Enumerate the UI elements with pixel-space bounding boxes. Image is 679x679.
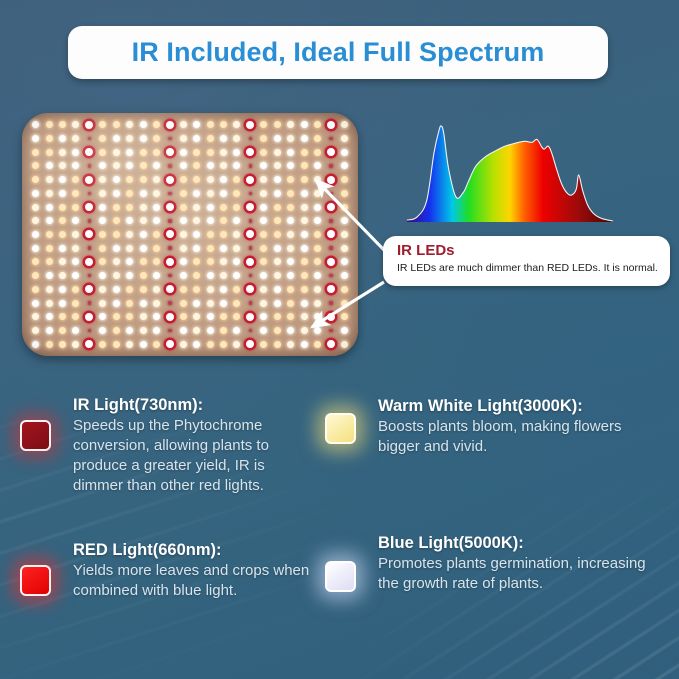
white-led	[271, 269, 284, 283]
led-dot	[126, 204, 133, 211]
led-dot	[126, 341, 133, 348]
led-dot	[260, 121, 267, 128]
led-dot	[59, 286, 66, 293]
led-dot	[341, 300, 348, 307]
led-dot	[99, 327, 106, 334]
white-led	[56, 214, 69, 228]
white-led	[96, 310, 109, 324]
feature-ir-light: IR Light(730nm): Speeds up the Phytochro…	[20, 395, 310, 496]
white-led	[96, 173, 109, 187]
white-led	[177, 324, 190, 338]
white-led	[177, 118, 190, 132]
white-led	[110, 282, 123, 296]
led-dot	[233, 162, 240, 169]
led-dot	[301, 204, 308, 211]
white-led	[110, 324, 123, 338]
led-dot	[314, 190, 321, 197]
led-dot	[314, 204, 321, 211]
led-dot	[99, 121, 106, 128]
led-dot	[314, 231, 321, 238]
white-led	[96, 241, 109, 255]
led-dot	[166, 148, 174, 156]
led-dot	[46, 190, 53, 197]
led-dot	[327, 148, 335, 156]
white-led	[297, 255, 310, 269]
led-dot	[126, 217, 133, 224]
white-led	[190, 337, 203, 351]
white-led	[297, 159, 310, 173]
white-led	[29, 118, 42, 132]
led-dot	[126, 135, 133, 142]
white-led	[257, 132, 270, 146]
white-led	[297, 187, 310, 201]
white-led	[123, 269, 136, 283]
white-led	[190, 255, 203, 269]
led-dot	[287, 300, 294, 307]
led-dot	[85, 313, 93, 321]
white-led	[297, 173, 310, 187]
led-dot	[246, 148, 254, 156]
led-dot	[260, 313, 267, 320]
white-led	[230, 269, 243, 283]
led-dot	[126, 162, 133, 169]
white-led	[177, 200, 190, 214]
led-dot	[274, 231, 281, 238]
white-led	[150, 269, 163, 283]
white-led	[136, 282, 149, 296]
white-led	[177, 269, 190, 283]
led-dot	[249, 164, 253, 168]
white-led	[190, 187, 203, 201]
white-led	[56, 337, 69, 351]
white-led	[284, 228, 297, 242]
white-led	[284, 269, 297, 283]
white-led	[150, 255, 163, 269]
white-led	[217, 310, 230, 324]
led-dot	[329, 246, 333, 250]
led-dot	[260, 286, 267, 293]
led-dot	[314, 162, 321, 169]
led-dot	[113, 135, 120, 142]
white-led	[190, 228, 203, 242]
led-dot	[207, 272, 214, 279]
led-dot	[72, 272, 79, 279]
white-led	[150, 200, 163, 214]
white-led	[96, 159, 109, 173]
led-dot	[99, 149, 106, 156]
white-led	[69, 241, 82, 255]
led-dot	[301, 162, 308, 169]
led-dot	[193, 121, 200, 128]
white-led	[96, 269, 109, 283]
led-dot	[59, 217, 66, 224]
led-dot	[140, 176, 147, 183]
white-led	[150, 310, 163, 324]
led-dot	[193, 190, 200, 197]
white-led	[311, 214, 324, 228]
led-dot	[301, 300, 308, 307]
led-dot	[207, 327, 214, 334]
led-dot	[72, 258, 79, 265]
white-led	[311, 269, 324, 283]
white-led	[56, 228, 69, 242]
white-led	[29, 228, 42, 242]
ir-led	[244, 214, 257, 228]
led-dot	[72, 300, 79, 307]
led-dot	[166, 203, 174, 211]
led-dot	[341, 190, 348, 197]
ir-swatch	[20, 420, 51, 451]
white-led	[257, 214, 270, 228]
led-dot	[88, 246, 92, 250]
led-dot	[72, 341, 79, 348]
white-led	[338, 310, 351, 324]
white-led	[110, 228, 123, 242]
ir-leds-callout: IR LEDs IR LEDs are much dimmer than RED…	[383, 236, 670, 286]
led-dot	[287, 231, 294, 238]
led-dot	[140, 121, 147, 128]
led-dot	[329, 164, 333, 168]
white-led	[257, 296, 270, 310]
led-dot	[193, 258, 200, 265]
red-led	[163, 310, 176, 324]
led-dot	[59, 121, 66, 128]
white-led	[42, 296, 55, 310]
led-dot	[113, 327, 120, 334]
white-led	[69, 118, 82, 132]
white-led	[42, 228, 55, 242]
white-led	[150, 228, 163, 242]
white-led	[56, 296, 69, 310]
white-led	[297, 241, 310, 255]
led-dot	[126, 245, 133, 252]
led-dot	[46, 327, 53, 334]
led-dot	[153, 121, 160, 128]
led-dot	[72, 245, 79, 252]
white-led	[284, 118, 297, 132]
led-dot	[207, 190, 214, 197]
led-dot	[32, 121, 39, 128]
led-dot	[140, 217, 147, 224]
ir-led	[324, 214, 337, 228]
white-led	[110, 310, 123, 324]
white-led	[29, 282, 42, 296]
led-dot	[233, 149, 240, 156]
led-dot	[153, 300, 160, 307]
led-dot	[32, 149, 39, 156]
white-led	[203, 228, 216, 242]
led-dot	[113, 272, 120, 279]
white-led	[230, 132, 243, 146]
led-dot	[341, 176, 348, 183]
led-dot	[287, 313, 294, 320]
led-dot	[260, 272, 267, 279]
white-led	[123, 324, 136, 338]
led-dot	[140, 162, 147, 169]
led-dot	[153, 313, 160, 320]
led-dot	[153, 231, 160, 238]
ir-led	[244, 159, 257, 173]
spectrum-chart	[404, 118, 616, 226]
white-led	[96, 324, 109, 338]
white-led	[311, 282, 324, 296]
red-led	[324, 200, 337, 214]
led-dot	[249, 219, 253, 223]
white-led	[150, 145, 163, 159]
white-led	[136, 145, 149, 159]
led-dot	[85, 203, 93, 211]
white-led	[311, 310, 324, 324]
white-led	[271, 132, 284, 146]
led-dot	[140, 190, 147, 197]
white-led	[42, 324, 55, 338]
white-led	[217, 324, 230, 338]
led-dot	[260, 300, 267, 307]
led-dot	[301, 258, 308, 265]
led-dot	[220, 258, 227, 265]
led-dot	[32, 313, 39, 320]
white-led	[69, 255, 82, 269]
feature-title: RED Light(660nm):	[73, 540, 320, 561]
led-dot	[314, 217, 321, 224]
red-led	[83, 255, 96, 269]
white-led	[271, 310, 284, 324]
led-dot	[301, 135, 308, 142]
led-dot	[32, 286, 39, 293]
white-led	[217, 255, 230, 269]
led-dot	[99, 190, 106, 197]
led-dot	[46, 341, 53, 348]
led-dot	[341, 245, 348, 252]
white-led	[311, 118, 324, 132]
white-led	[297, 145, 310, 159]
led-dot	[46, 149, 53, 156]
led-dot	[249, 246, 253, 250]
led-dot	[85, 121, 93, 129]
led-dot	[193, 135, 200, 142]
white-led	[230, 173, 243, 187]
ir-led	[163, 269, 176, 283]
led-dot	[249, 137, 253, 141]
led-dot	[32, 272, 39, 279]
led-dot	[180, 135, 187, 142]
white-led	[177, 296, 190, 310]
led-dot	[72, 149, 79, 156]
white-led	[297, 337, 310, 351]
led-dot	[260, 135, 267, 142]
led-dot	[193, 286, 200, 293]
white-led	[338, 145, 351, 159]
ir-led	[83, 187, 96, 201]
white-led	[56, 200, 69, 214]
white-led	[150, 173, 163, 187]
white-led	[190, 296, 203, 310]
led-dot	[140, 149, 147, 156]
blue-swatch	[325, 561, 356, 592]
led-dot	[72, 121, 79, 128]
led-dot	[153, 204, 160, 211]
white-led	[257, 159, 270, 173]
ir-led	[163, 241, 176, 255]
white-led	[29, 255, 42, 269]
white-led	[230, 282, 243, 296]
led-dot	[88, 274, 92, 278]
white-led	[203, 296, 216, 310]
white-led	[271, 337, 284, 351]
white-led	[177, 241, 190, 255]
led-dot	[46, 217, 53, 224]
white-led	[29, 132, 42, 146]
red-led	[83, 145, 96, 159]
led-dot	[72, 176, 79, 183]
led-dot	[287, 245, 294, 252]
led-dot	[274, 300, 281, 307]
feature-body: Boosts plants bloom, making flowers bigg…	[378, 417, 665, 457]
led-dot	[46, 300, 53, 307]
white-led	[338, 337, 351, 351]
white-led	[56, 145, 69, 159]
led-dot	[59, 327, 66, 334]
led-dot	[59, 245, 66, 252]
white-led	[96, 132, 109, 146]
white-led	[271, 214, 284, 228]
led-dot	[168, 329, 172, 333]
white-led	[150, 296, 163, 310]
led-dot	[193, 162, 200, 169]
led-dot	[180, 286, 187, 293]
white-led	[56, 282, 69, 296]
white-led	[338, 187, 351, 201]
ir-led	[83, 159, 96, 173]
white-led	[96, 282, 109, 296]
led-dot	[274, 327, 281, 334]
led-dot	[207, 121, 214, 128]
white-led	[284, 282, 297, 296]
led-dot	[88, 301, 92, 305]
white-led	[177, 228, 190, 242]
led-dot	[88, 329, 92, 333]
ir-led	[83, 296, 96, 310]
led-dot	[99, 272, 106, 279]
led-dot	[180, 176, 187, 183]
white-led	[284, 255, 297, 269]
red-led	[324, 173, 337, 187]
led-dot	[113, 176, 120, 183]
white-led	[136, 296, 149, 310]
white-led	[69, 324, 82, 338]
led-dot	[233, 313, 240, 320]
led-dot	[260, 204, 267, 211]
led-dot	[46, 204, 53, 211]
led-dot	[180, 300, 187, 307]
led-dot	[274, 258, 281, 265]
led-dot	[274, 272, 281, 279]
led-dot	[126, 190, 133, 197]
white-led	[136, 255, 149, 269]
led-dot	[59, 135, 66, 142]
feature-title: Warm White Light(3000K):	[378, 396, 665, 417]
white-led	[136, 132, 149, 146]
led-dot	[220, 231, 227, 238]
title-banner: IR Included, Ideal Full Spectrum	[68, 26, 608, 79]
led-dot	[327, 285, 335, 293]
white-led	[284, 241, 297, 255]
white-led	[123, 187, 136, 201]
white-led	[284, 296, 297, 310]
white-led	[311, 324, 324, 338]
white-led	[230, 324, 243, 338]
ir-led	[163, 187, 176, 201]
led-dot	[314, 135, 321, 142]
white-led	[190, 145, 203, 159]
white-led	[42, 337, 55, 351]
feature-title: Blue Light(5000K):	[378, 533, 665, 554]
led-dot	[113, 258, 120, 265]
white-led	[110, 337, 123, 351]
white-led	[257, 145, 270, 159]
white-led	[177, 255, 190, 269]
led-dot	[260, 258, 267, 265]
led-dot	[329, 219, 333, 223]
red-led	[83, 173, 96, 187]
white-led	[136, 324, 149, 338]
white-led	[96, 255, 109, 269]
white-led	[217, 214, 230, 228]
white-led	[311, 337, 324, 351]
led-dot	[46, 176, 53, 183]
led-dot	[327, 258, 335, 266]
white-led	[123, 173, 136, 187]
led-dot	[72, 231, 79, 238]
led-dot	[85, 340, 93, 348]
led-dot	[260, 176, 267, 183]
led-dot	[99, 162, 106, 169]
white-led	[110, 145, 123, 159]
white-led	[257, 337, 270, 351]
white-led	[56, 310, 69, 324]
white-led	[150, 337, 163, 351]
led-dot	[113, 121, 120, 128]
ir-led	[324, 324, 337, 338]
white-led	[177, 145, 190, 159]
led-dot	[99, 204, 106, 211]
led-dot	[301, 217, 308, 224]
ir-led	[163, 132, 176, 146]
white-led	[190, 269, 203, 283]
white-led	[150, 214, 163, 228]
led-dot	[99, 217, 106, 224]
white-led	[42, 214, 55, 228]
white-led	[203, 282, 216, 296]
led-dot	[168, 301, 172, 305]
red-led	[163, 228, 176, 242]
white-led	[297, 310, 310, 324]
led-dot	[274, 286, 281, 293]
white-led	[29, 296, 42, 310]
white-led	[42, 282, 55, 296]
led-dot	[274, 135, 281, 142]
white-led	[150, 241, 163, 255]
red-led	[244, 228, 257, 242]
white-led	[284, 187, 297, 201]
ir-led	[83, 269, 96, 283]
white-led	[217, 159, 230, 173]
red-led	[324, 145, 337, 159]
led-dot	[32, 217, 39, 224]
white-led	[284, 145, 297, 159]
led-dot	[246, 230, 254, 238]
led-dot	[287, 327, 294, 334]
